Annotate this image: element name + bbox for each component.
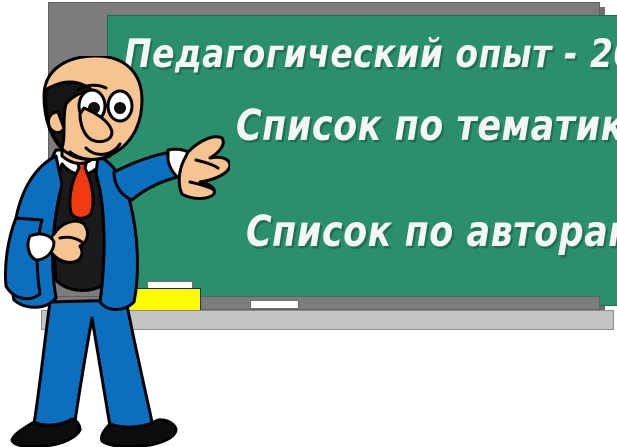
pupil-right	[114, 102, 126, 114]
chalk-stick-icon[interactable]	[250, 300, 299, 309]
pointing-hand	[179, 137, 230, 199]
menu-item-by-topic[interactable]: Список по тематике	[236, 106, 617, 149]
teacher-illustration	[0, 56, 230, 447]
trousers	[34, 300, 152, 431]
menu-item-by-author[interactable]: Список по авторам	[246, 212, 617, 255]
screenshot-root: Педагогический опыт - 2007 Список по тем…	[0, 0, 617, 447]
